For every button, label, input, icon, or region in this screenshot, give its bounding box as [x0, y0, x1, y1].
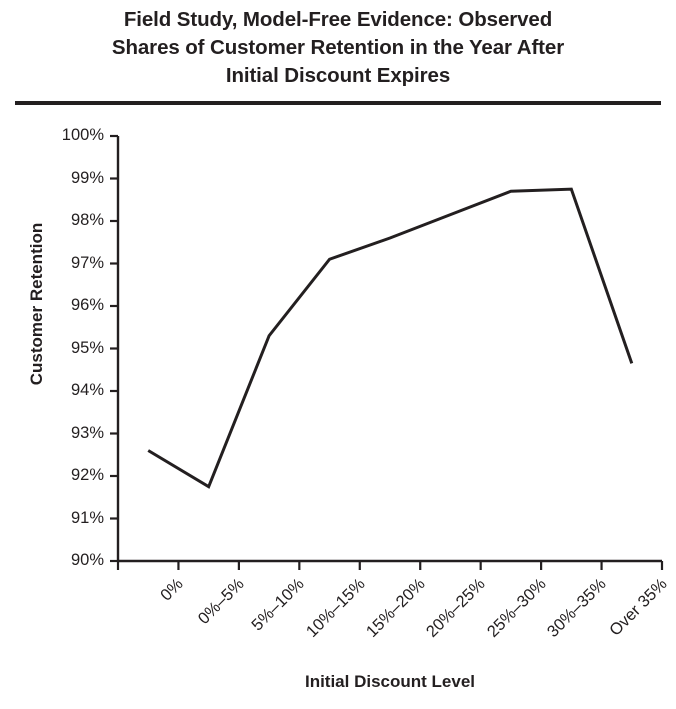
plot-area	[0, 0, 676, 709]
chart-figure: Field Study, Model-Free Evidence: Observ…	[0, 0, 676, 709]
retention-line-series	[148, 189, 632, 487]
axes	[118, 136, 662, 561]
x-axis-ticks	[118, 561, 662, 570]
